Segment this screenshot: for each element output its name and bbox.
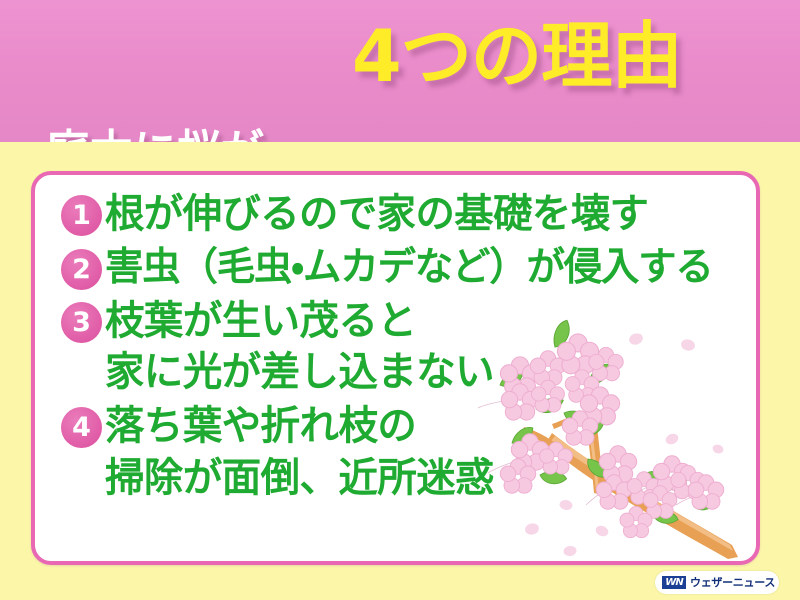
weathernews-logo: WN ウェザーニュース: [655, 571, 779, 594]
reason-number-badge: 3: [61, 302, 102, 343]
reason-number-badge: 4: [61, 407, 102, 448]
reason-number-badge: 2: [61, 249, 102, 290]
list-item: 2 害虫（毛虫・ムカデなど）が侵入する: [35, 243, 756, 293]
header-banner: 庭木に桜が 嫌われる 4つの理由: [0, 0, 800, 142]
reason-number-badge: 1: [61, 195, 102, 236]
logo-label: ウェザーニュース: [690, 576, 775, 589]
wn-mark-icon: WN: [662, 576, 686, 589]
headline-left-line1: 庭木に桜が: [46, 123, 264, 142]
reason-text: 害虫（毛虫・ムカデなど）が侵入する: [105, 243, 746, 293]
list-item: 1 根が伸びるので家の基礎を壊す: [35, 189, 756, 240]
reasons-list: 1 根が伸びるので家の基礎を壊す 2 害虫（毛虫・ムカデなど）が侵入する 3 枝…: [35, 175, 756, 561]
list-item: 3 枝葉が生い茂ると 家に光が差し込まない: [35, 296, 756, 398]
headline-left: 庭木に桜が 嫌われる: [46, 8, 264, 142]
reason-text: 枝葉が生い茂ると 家に光が差し込まない: [105, 296, 746, 398]
list-item: 4 落ち葉や折れ枝の 掃除が面倒、近所迷惑: [35, 401, 756, 503]
infographic-poster: 庭木に桜が 嫌われる 4つの理由: [0, 0, 800, 600]
reason-text: 根が伸びるので家の基礎を壊す: [105, 189, 746, 240]
reason-text: 落ち葉や折れ枝の 掃除が面倒、近所迷惑: [105, 401, 746, 503]
header-inner: 庭木に桜が 嫌われる 4つの理由: [0, 0, 800, 142]
reasons-panel: 1 根が伸びるので家の基礎を壊す 2 害虫（毛虫・ムカデなど）が侵入する 3 枝…: [31, 171, 760, 565]
headline-right: 4つの理由: [352, 14, 682, 99]
